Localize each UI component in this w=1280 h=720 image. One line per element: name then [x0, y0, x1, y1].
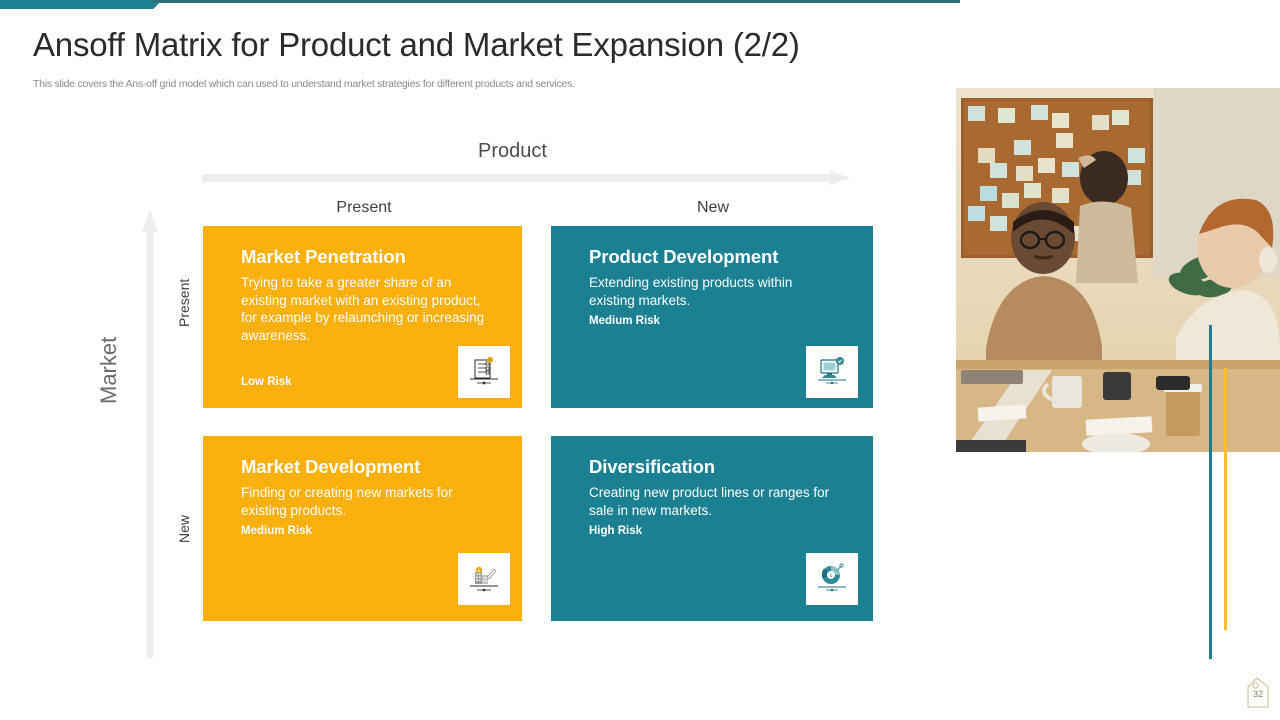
city-buildings-coin-icon: $ [458, 553, 510, 605]
matrix-cell-market-penetration[interactable]: Market Penetration Trying to take a grea… [203, 226, 522, 408]
accent-rule-teal [1209, 325, 1212, 659]
cell-title: Diversification [589, 456, 715, 478]
team-meeting-photo [956, 88, 1280, 452]
cell-risk-badge: Medium Risk [241, 525, 312, 537]
cell-risk-badge: Medium Risk [589, 315, 660, 327]
cell-title: Product Development [589, 246, 778, 268]
axis-y-tick-new: New [176, 515, 192, 543]
page-title: Ansoff Matrix for Product and Market Exp… [33, 26, 800, 64]
axis-x-tick-present: Present [284, 199, 444, 217]
cell-body: Finding or creating new markets for exis… [241, 484, 489, 519]
cell-title: Market Penetration [241, 246, 406, 268]
axis-y-tick-present: Present [176, 279, 192, 327]
accent-rule-yellow [1224, 368, 1227, 630]
cell-body: Extending existing products within exist… [589, 274, 839, 309]
slide-canvas: Ansoff Matrix for Product and Market Exp… [0, 0, 1280, 720]
arrow-right-icon [202, 171, 850, 185]
desktop-computer-icon [806, 346, 858, 398]
axis-x-title: Product [478, 140, 547, 163]
pie-chart-globe-icon: $ [806, 553, 858, 605]
page-subtitle: This slide covers the Ans-off grid model… [33, 78, 575, 90]
cell-risk-badge: Low Risk [241, 376, 291, 388]
arrow-up-icon [142, 210, 158, 658]
top-accent-bar-thick [0, 0, 152, 9]
cell-body: Creating new product lines or ranges for… [589, 484, 839, 519]
matrix-cell-diversification[interactable]: Diversification Creating new product lin… [551, 436, 873, 621]
page-number: 32 [1245, 689, 1271, 699]
cell-risk-badge: High Risk [589, 525, 642, 537]
top-accent-bar-thin [152, 0, 960, 3]
cell-body: Trying to take a greater share of an exi… [241, 274, 489, 344]
matrix-cell-product-development[interactable]: Product Development Extending existing p… [551, 226, 873, 408]
checklist-icon [458, 346, 510, 398]
matrix-cell-market-development[interactable]: Market Development Finding or creating n… [203, 436, 522, 621]
axis-y-title: Market [96, 337, 122, 404]
axis-x-tick-new: New [633, 199, 793, 217]
cell-title: Market Development [241, 456, 420, 478]
